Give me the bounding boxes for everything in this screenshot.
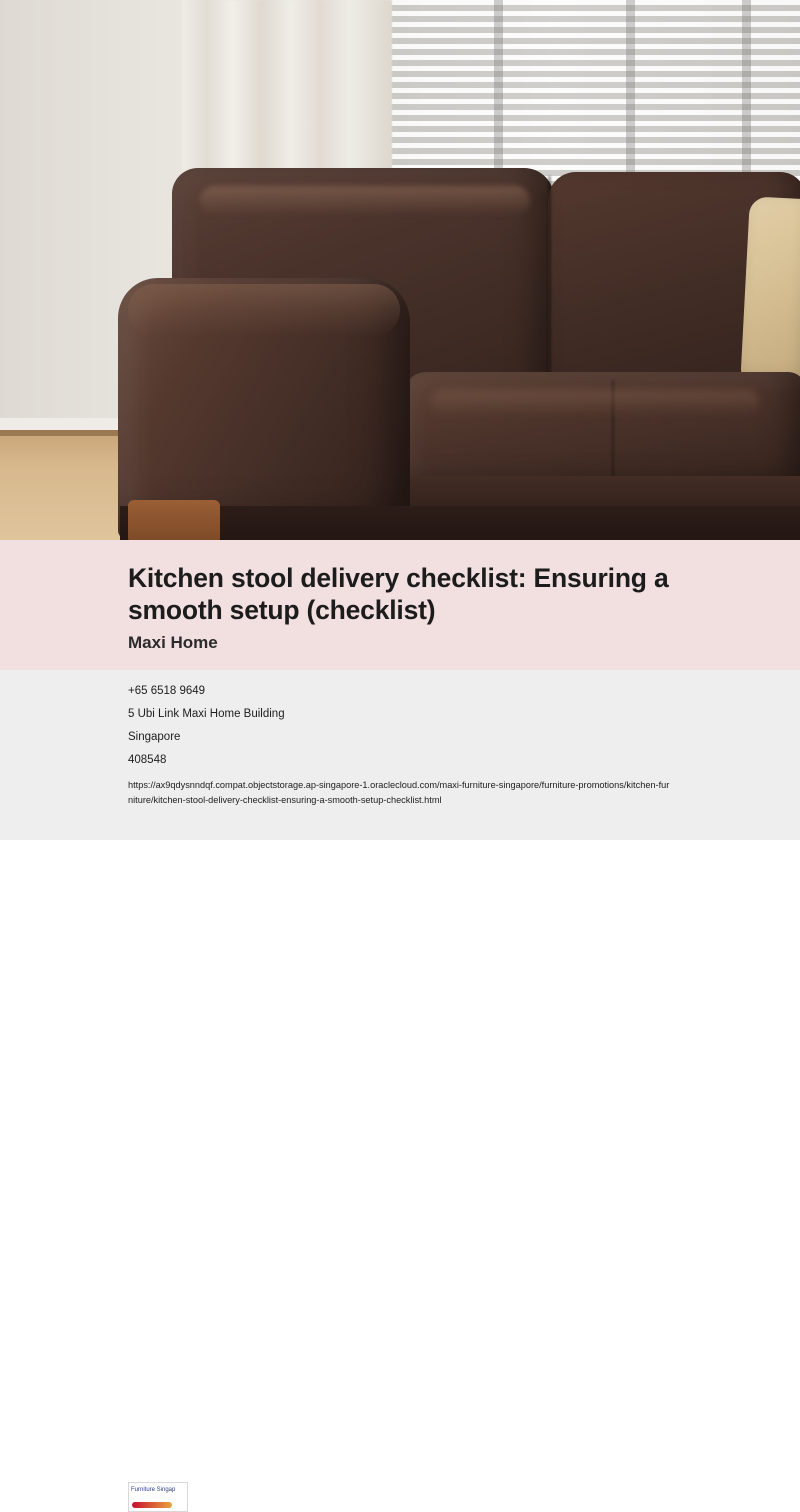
- sofa-wood-leg: [128, 500, 220, 540]
- logo-text: Furniture Singap: [129, 1483, 187, 1494]
- street-address: 5 Ubi Link Maxi Home Building: [128, 703, 672, 726]
- postal-code: 408548: [128, 749, 672, 772]
- leather-highlight: [200, 186, 530, 216]
- leather-highlight: [430, 390, 760, 416]
- sofa-base: [120, 506, 800, 540]
- leather-sofa: [0, 0, 800, 540]
- title-band: Kitchen stool delivery checklist: Ensuri…: [0, 540, 800, 670]
- sofa-arm-highlight: [128, 284, 400, 336]
- source-url[interactable]: https://ax9qdysnndqf.compat.objectstorag…: [128, 778, 672, 808]
- contact-band: +65 6518 9649 5 Ubi Link Maxi Home Build…: [0, 670, 800, 840]
- brand-name: Maxi Home: [128, 633, 672, 653]
- page-title: Kitchen stool delivery checklist: Ensuri…: [128, 562, 672, 626]
- accent-pillow: [740, 196, 800, 389]
- article-page: Kitchen stool delivery checklist: Ensuri…: [0, 0, 800, 840]
- country: Singapore: [128, 726, 672, 749]
- logo-swoosh-icon: [132, 1502, 172, 1508]
- maxi-furniture-logo: Furniture Singap: [128, 1482, 188, 1512]
- phone-number[interactable]: +65 6518 9649: [128, 680, 672, 703]
- hero-image: [0, 0, 800, 540]
